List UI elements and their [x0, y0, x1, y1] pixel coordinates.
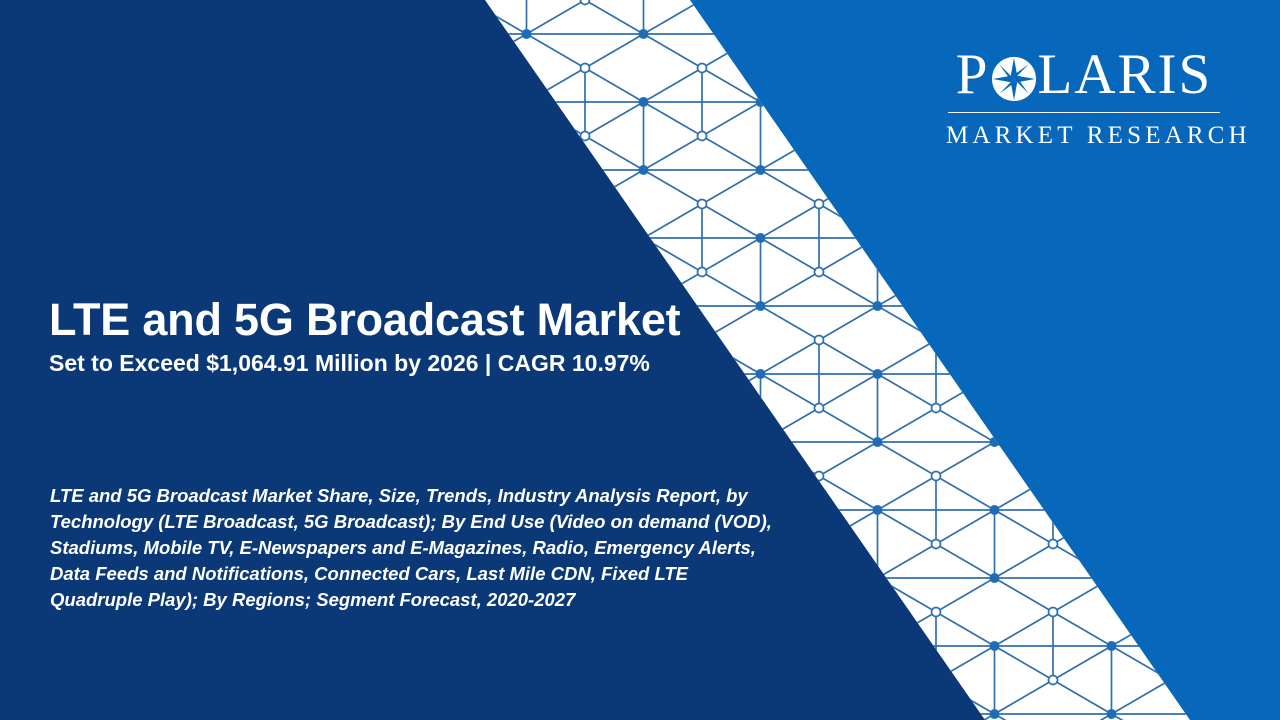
polaris-logo: P LARIS MAR — [946, 46, 1222, 150]
report-description: LTE and 5G Broadcast Market Share, Size,… — [50, 483, 780, 613]
compass-star-icon — [991, 55, 1037, 101]
report-banner: P LARIS MAR — [0, 0, 1280, 720]
logo-wordmark: P LARIS — [946, 46, 1222, 103]
logo-subtitle: MARKET RESEARCH — [946, 122, 1222, 150]
page-subtitle: Set to Exceed $1,064.91 Million by 2026 … — [49, 350, 749, 378]
logo-divider — [948, 112, 1220, 113]
logo-letter-p: P — [956, 46, 990, 103]
page-title: LTE and 5G Broadcast Market — [49, 297, 749, 344]
headline-block: LTE and 5G Broadcast Market Set to Excee… — [49, 297, 749, 377]
logo-letters-laris: LARIS — [1038, 46, 1213, 103]
